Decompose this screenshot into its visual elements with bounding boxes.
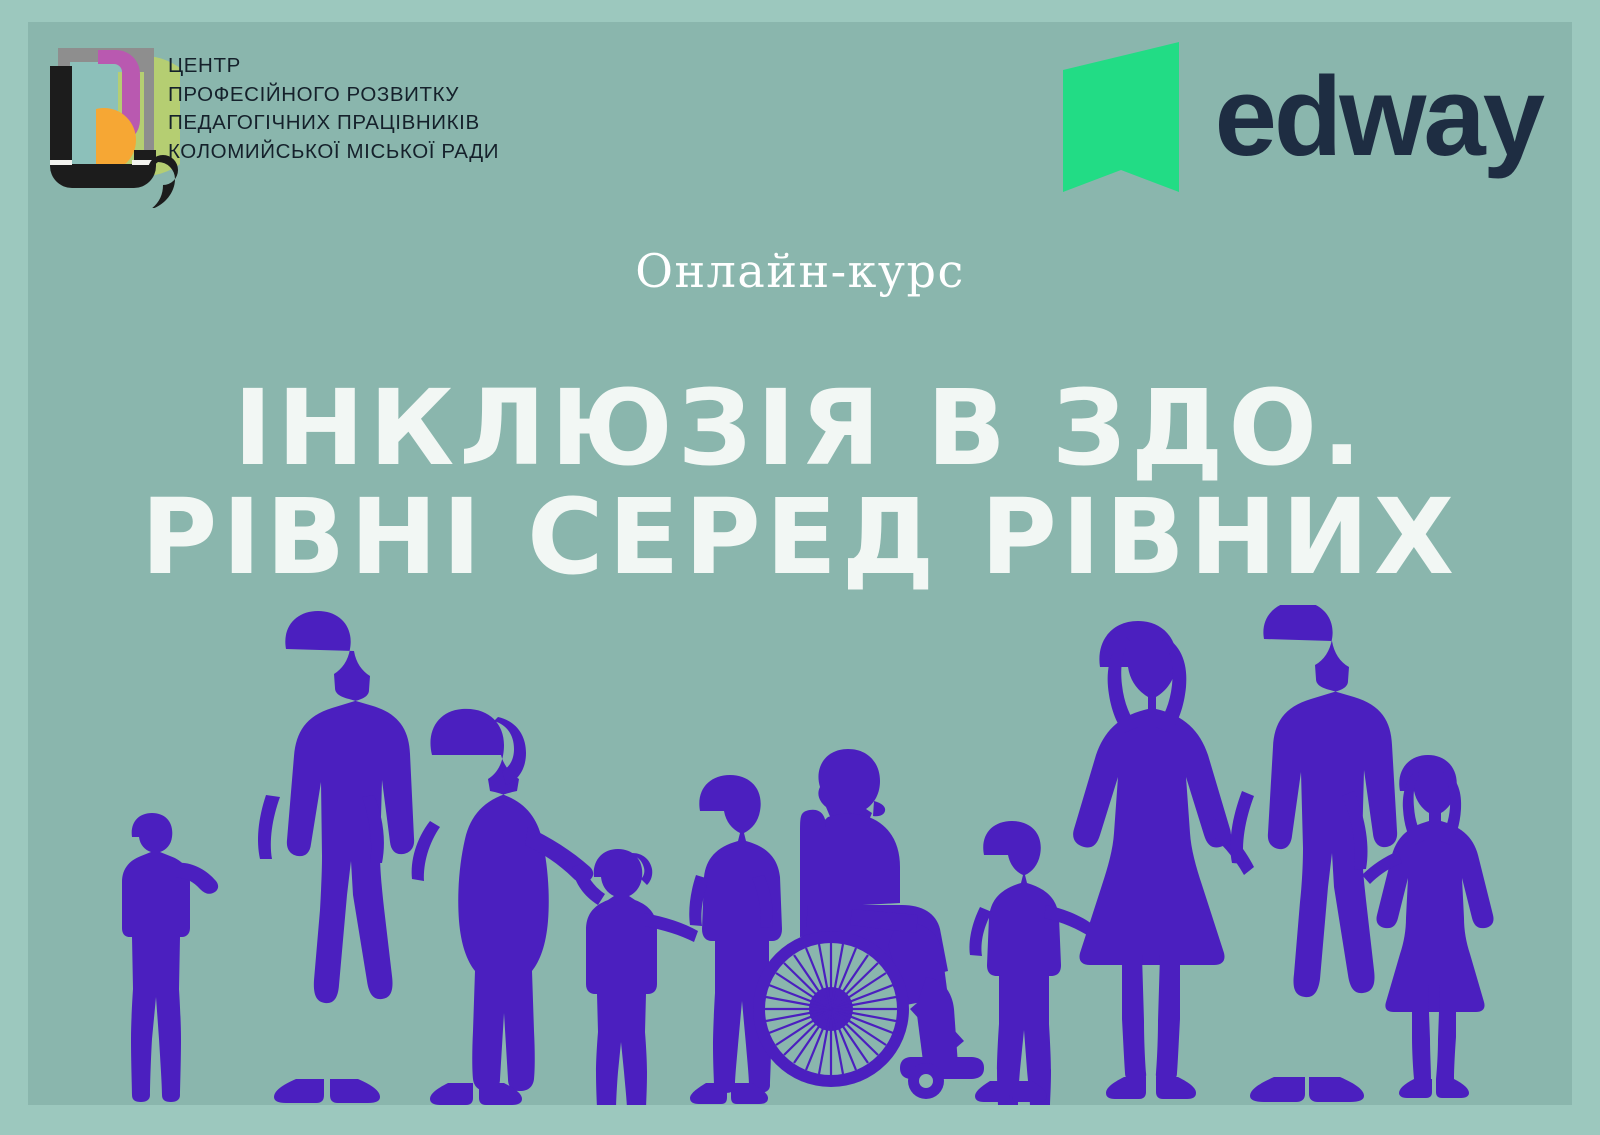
figure-toddler <box>572 849 698 1105</box>
headline-line-1: ІНКЛЮЗІЯ В ЗДО. <box>28 374 1572 483</box>
figure-child-left <box>122 813 218 1102</box>
cpr-logo: ЦЕНТР ПРОФЕСІЙНОГО РОЗВИТКУ ПЕДАГОГІЧНИХ… <box>40 30 600 208</box>
headline-line-2: РІВНІ СЕРЕД РІВНИХ <box>28 483 1572 592</box>
cpr-line-2: ПРОФЕСІЙНОГО РОЗВИТКУ <box>168 81 598 110</box>
edway-wordmark: edway <box>1215 71 1542 163</box>
cpr-line-1: ЦЕНТР <box>168 52 598 81</box>
course-headline: ІНКЛЮЗІЯ В ЗДО. РІВНІ СЕРЕД РІВНИХ <box>28 374 1572 592</box>
figure-adult-woman-plus-size <box>412 709 594 1105</box>
figure-woman-dress <box>1073 621 1254 1099</box>
figure-person-in-wheelchair <box>753 749 984 1099</box>
banner-panel: ЦЕНТР ПРОФЕСІЙНОГО РОЗВИТКУ ПЕДАГОГІЧНИХ… <box>28 22 1572 1105</box>
cpr-line-4: КОЛОМИЙСЬКОЇ МІСЬКОЇ РАДИ <box>168 138 598 167</box>
inclusive-people-silhouettes <box>28 605 1572 1105</box>
figure-man-right <box>1230 605 1397 1102</box>
figure-adult-man-left <box>258 611 414 1103</box>
green-bookmark-flag-icon <box>1063 42 1179 192</box>
figure-small-boy <box>969 821 1096 1105</box>
book-tsi-letter-icon <box>40 30 180 208</box>
edway-logo: edway <box>1063 32 1542 202</box>
cpr-line-3: ПЕДАГОГІЧНИХ ПРАЦІВНИКІВ <box>168 109 598 138</box>
cpr-logo-text: ЦЕНТР ПРОФЕСІЙНОГО РОЗВИТКУ ПЕДАГОГІЧНИХ… <box>168 52 598 166</box>
course-kicker: Онлайн-курс <box>28 244 1572 298</box>
course-banner: ЦЕНТР ПРОФЕСІЙНОГО РОЗВИТКУ ПЕДАГОГІЧНИХ… <box>0 0 1600 1135</box>
